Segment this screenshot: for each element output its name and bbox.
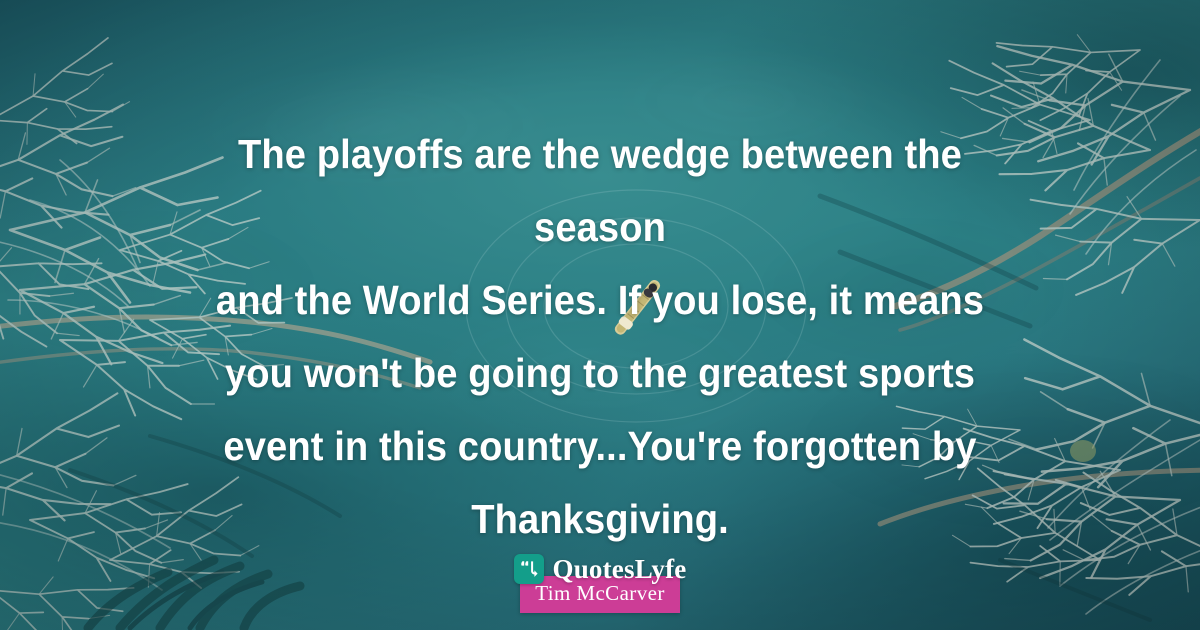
- brand-name: QuotesLyfe: [553, 556, 687, 583]
- brand-logo[interactable]: QuotesLyfe: [0, 554, 1200, 584]
- quote-poster: The playoffs are the wedge between the s…: [0, 0, 1200, 630]
- quote-text: The playoffs are the wedge between the s…: [191, 118, 1009, 556]
- quote-bubble-icon: [514, 554, 544, 584]
- quote-content: The playoffs are the wedge between the s…: [0, 0, 1200, 630]
